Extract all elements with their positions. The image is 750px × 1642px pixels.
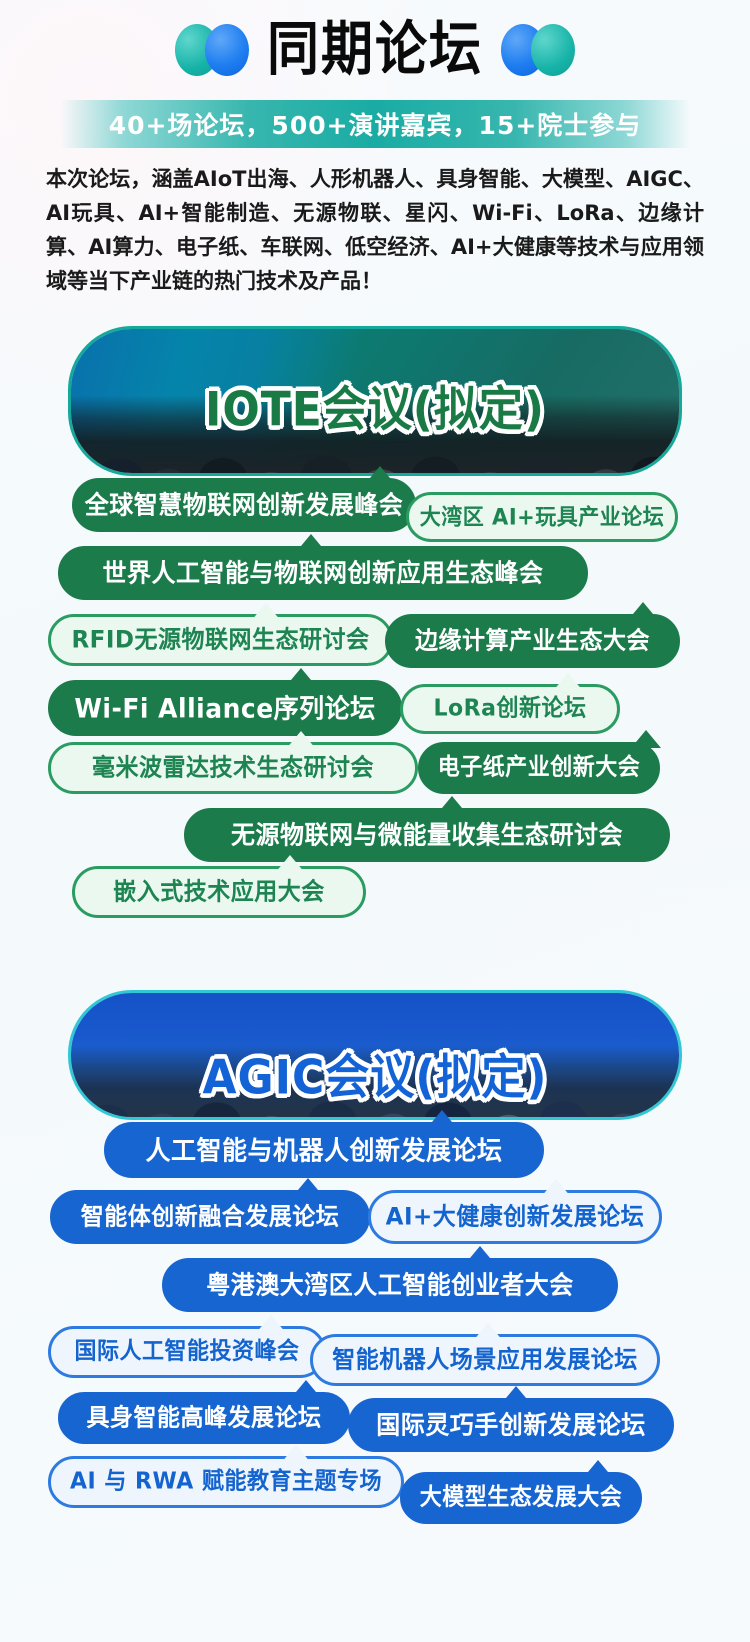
header-decor-left	[175, 24, 249, 76]
iote-forum-pill[interactable]: 边缘计算产业生态大会	[385, 614, 680, 668]
forum-pill-label: Wi-Fi Alliance序列论坛	[74, 695, 375, 721]
iote-forum-pill[interactable]: 电子纸产业创新大会	[418, 742, 660, 794]
iote-forum-pill[interactable]: 嵌入式技术应用大会	[72, 866, 366, 918]
forum-pill-label: 国际人工智能投资峰会	[74, 1340, 299, 1363]
forum-pill-label: 粤港澳大湾区人工智能创业者大会	[206, 1272, 574, 1297]
agic-forum-pill[interactable]: 粤港澳大湾区人工智能创业者大会	[162, 1258, 618, 1312]
page-header: 同期论坛	[0, 0, 750, 100]
subtitle-banner: 40+场论坛，500+演讲嘉宾，15+院士参与	[60, 100, 690, 148]
forum-pill-label: 具身智能高峰发展论坛	[87, 1406, 322, 1430]
agic-forum-pill[interactable]: 大模型生态发展大会	[400, 1472, 642, 1524]
page-title: 同期论坛	[267, 21, 483, 79]
iote-forum-pill[interactable]: 世界人工智能与物联网创新应用生态峰会	[58, 546, 588, 600]
iote-forum-pill[interactable]: 毫米波雷达技术生态研讨会	[48, 742, 418, 794]
agic-forum-pill[interactable]: AI+大健康创新发展论坛	[368, 1190, 662, 1244]
forum-pill-label: 嵌入式技术应用大会	[113, 880, 325, 904]
forum-pill-label: AI 与 RWA 赋能教育主题专场	[70, 1470, 382, 1493]
forum-pill-label: 大模型生态发展大会	[420, 1486, 623, 1509]
agic-forum-pill[interactable]: 人工智能与机器人创新发展论坛	[104, 1122, 544, 1178]
iote-forum-pill[interactable]: Wi-Fi Alliance序列论坛	[48, 680, 402, 736]
forum-pill-label: 电子纸产业创新大会	[438, 756, 641, 779]
forum-pill-label: 国际灵巧手创新发展论坛	[376, 1412, 646, 1437]
forum-pill-label: 大湾区 AI+玩具产业论坛	[420, 506, 664, 528]
agic-forum-pill[interactable]: 具身智能高峰发展论坛	[58, 1392, 350, 1444]
forum-pill-label: RFID无源物联网生态研讨会	[71, 628, 369, 652]
agic-forum-pill[interactable]: 国际人工智能投资峰会	[48, 1326, 326, 1378]
agic-banner: AGIC会议(拟定)	[68, 990, 682, 1120]
iote-forum-pill[interactable]: RFID无源物联网生态研讨会	[48, 614, 393, 666]
forum-pill-label: LoRa创新论坛	[434, 697, 587, 720]
iote-banner-label: IOTE会议(拟定)	[71, 370, 679, 439]
iote-forum-pill[interactable]: 全球智慧物联网创新发展峰会	[72, 478, 416, 532]
forum-pill-label: AI+大健康创新发展论坛	[386, 1205, 645, 1229]
forum-pill-label: 人工智能与机器人创新发展论坛	[145, 1137, 502, 1163]
forum-pill-label: 智能体创新融合发展论坛	[81, 1205, 340, 1229]
iote-forum-pill[interactable]: 大湾区 AI+玩具产业论坛	[406, 492, 678, 542]
agic-forum-pill[interactable]: AI 与 RWA 赋能教育主题专场	[48, 1456, 404, 1508]
forum-pill-label: 世界人工智能与物联网创新应用生态峰会	[103, 560, 544, 585]
teal-circle-icon	[531, 24, 575, 76]
iote-banner: IOTE会议(拟定)	[68, 326, 682, 476]
subtitle-text: 40+场论坛，500+演讲嘉宾，15+院士参与	[109, 106, 642, 142]
blue-circle-icon	[205, 24, 249, 76]
iote-forum-pill[interactable]: 无源物联网与微能量收集生态研讨会	[184, 808, 670, 862]
intro-paragraph: 本次论坛，涵盖AIoT出海、人形机器人、具身智能、大模型、AIGC、AI玩具、A…	[46, 162, 704, 298]
iote-forum-pill[interactable]: LoRa创新论坛	[400, 684, 620, 734]
agic-forum-pill[interactable]: 智能机器人场景应用发展论坛	[310, 1334, 660, 1386]
forum-pill-label: 毫米波雷达技术生态研讨会	[92, 756, 374, 780]
agic-forum-pill[interactable]: 国际灵巧手创新发展论坛	[348, 1398, 674, 1452]
agic-forum-pill[interactable]: 智能体创新融合发展论坛	[50, 1190, 370, 1244]
forum-pill-label: 无源物联网与微能量收集生态研讨会	[231, 822, 623, 847]
agic-banner-label: AGIC会议(拟定)	[71, 1038, 679, 1107]
forum-pill-label: 全球智慧物联网创新发展峰会	[85, 492, 404, 517]
header-decor-right	[501, 24, 575, 76]
forum-pill-label: 边缘计算产业生态大会	[415, 629, 650, 653]
forum-pill-label: 智能机器人场景应用发展论坛	[332, 1348, 638, 1372]
